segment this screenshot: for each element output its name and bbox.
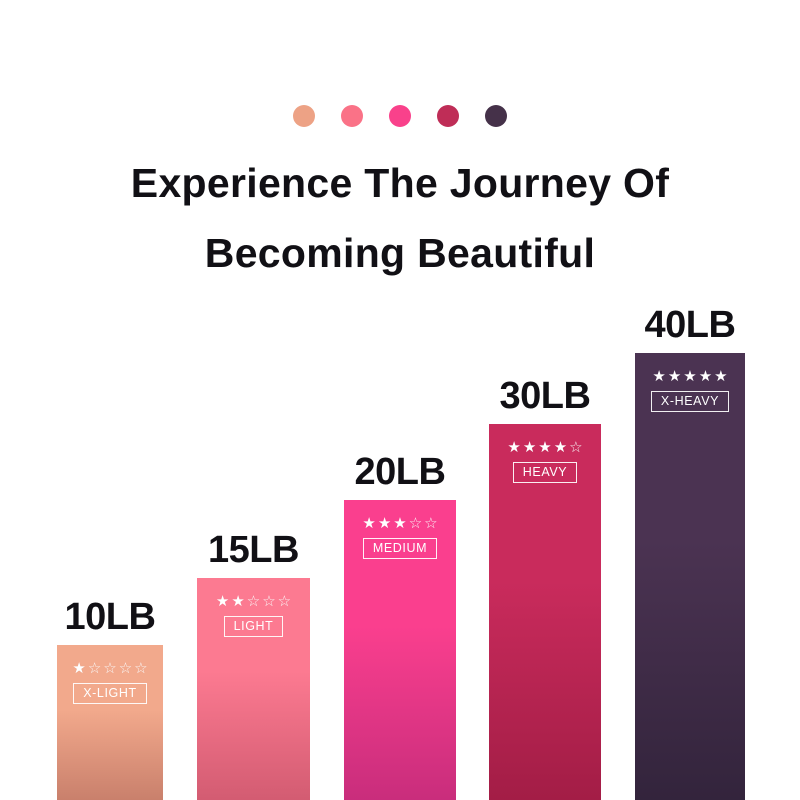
- bar-rect: ★★★★★X-HEAVY: [635, 353, 745, 800]
- bar-badge: ★★☆☆☆LIGHT: [197, 594, 310, 637]
- bar-badge: ★☆☆☆☆X-LIGHT: [57, 661, 163, 704]
- star-empty-icon: ☆: [278, 594, 291, 609]
- star-empty-icon: ☆: [569, 440, 582, 455]
- star-empty-icon: ☆: [119, 661, 132, 676]
- star-filled-icon: ★: [714, 369, 727, 384]
- bar-rect: ★☆☆☆☆X-LIGHT: [57, 645, 163, 800]
- bar-badge: ★★★★☆HEAVY: [489, 440, 601, 483]
- bar-value-label: 10LB: [65, 596, 156, 639]
- star-filled-icon: ★: [393, 516, 406, 531]
- star-filled-icon: ★: [231, 594, 244, 609]
- infographic-canvas: Experience The Journey Of Becoming Beaut…: [0, 0, 800, 800]
- star-filled-icon: ★: [523, 440, 536, 455]
- bar-badge: ★★★★★X-HEAVY: [635, 369, 745, 412]
- resistance-level-tag: LIGHT: [224, 616, 284, 637]
- star-empty-icon: ☆: [134, 661, 147, 676]
- bar-group-15lb[interactable]: 15LB★★☆☆☆LIGHT: [197, 578, 310, 800]
- star-rating: ★☆☆☆☆: [72, 661, 147, 676]
- star-empty-icon: ☆: [247, 594, 260, 609]
- bar-gradient-fill: [635, 353, 745, 800]
- star-filled-icon: ★: [683, 369, 696, 384]
- star-empty-icon: ☆: [103, 661, 116, 676]
- resistance-level-tag: MEDIUM: [363, 538, 437, 559]
- star-empty-icon: ☆: [88, 661, 101, 676]
- star-filled-icon: ★: [538, 440, 551, 455]
- bar-group-20lb[interactable]: 20LB★★★☆☆MEDIUM: [344, 500, 456, 800]
- bar-group-30lb[interactable]: 30LB★★★★☆HEAVY: [489, 424, 601, 800]
- star-empty-icon: ☆: [409, 516, 422, 531]
- bar-group-10lb[interactable]: 10LB★☆☆☆☆X-LIGHT: [57, 645, 163, 800]
- bar-value-label: 20LB: [355, 451, 446, 494]
- star-rating: ★★☆☆☆: [216, 594, 291, 609]
- star-filled-icon: ★: [216, 594, 229, 609]
- resistance-level-tag: HEAVY: [513, 462, 577, 483]
- star-filled-icon: ★: [668, 369, 681, 384]
- star-filled-icon: ★: [378, 516, 391, 531]
- bar-value-label: 15LB: [208, 529, 299, 572]
- resistance-level-bar-chart: 10LB★☆☆☆☆X-LIGHT15LB★★☆☆☆LIGHT20LB★★★☆☆M…: [0, 0, 800, 800]
- bar-rect: ★★☆☆☆LIGHT: [197, 578, 310, 800]
- star-empty-icon: ☆: [262, 594, 275, 609]
- bar-group-40lb[interactable]: 40LB★★★★★X-HEAVY: [635, 353, 745, 800]
- star-rating: ★★★★☆: [507, 440, 582, 455]
- star-filled-icon: ★: [507, 440, 520, 455]
- star-filled-icon: ★: [652, 369, 665, 384]
- star-filled-icon: ★: [72, 661, 85, 676]
- bar-badge: ★★★☆☆MEDIUM: [344, 516, 456, 559]
- star-rating: ★★★☆☆: [362, 516, 437, 531]
- resistance-level-tag: X-HEAVY: [651, 391, 729, 412]
- bar-rect: ★★★★☆HEAVY: [489, 424, 601, 800]
- bar-value-label: 40LB: [645, 304, 736, 347]
- star-empty-icon: ☆: [424, 516, 437, 531]
- star-filled-icon: ★: [554, 440, 567, 455]
- star-filled-icon: ★: [362, 516, 375, 531]
- bar-value-label: 30LB: [500, 375, 591, 418]
- bar-rect: ★★★☆☆MEDIUM: [344, 500, 456, 800]
- star-filled-icon: ★: [699, 369, 712, 384]
- star-rating: ★★★★★: [652, 369, 727, 384]
- resistance-level-tag: X-LIGHT: [73, 683, 147, 704]
